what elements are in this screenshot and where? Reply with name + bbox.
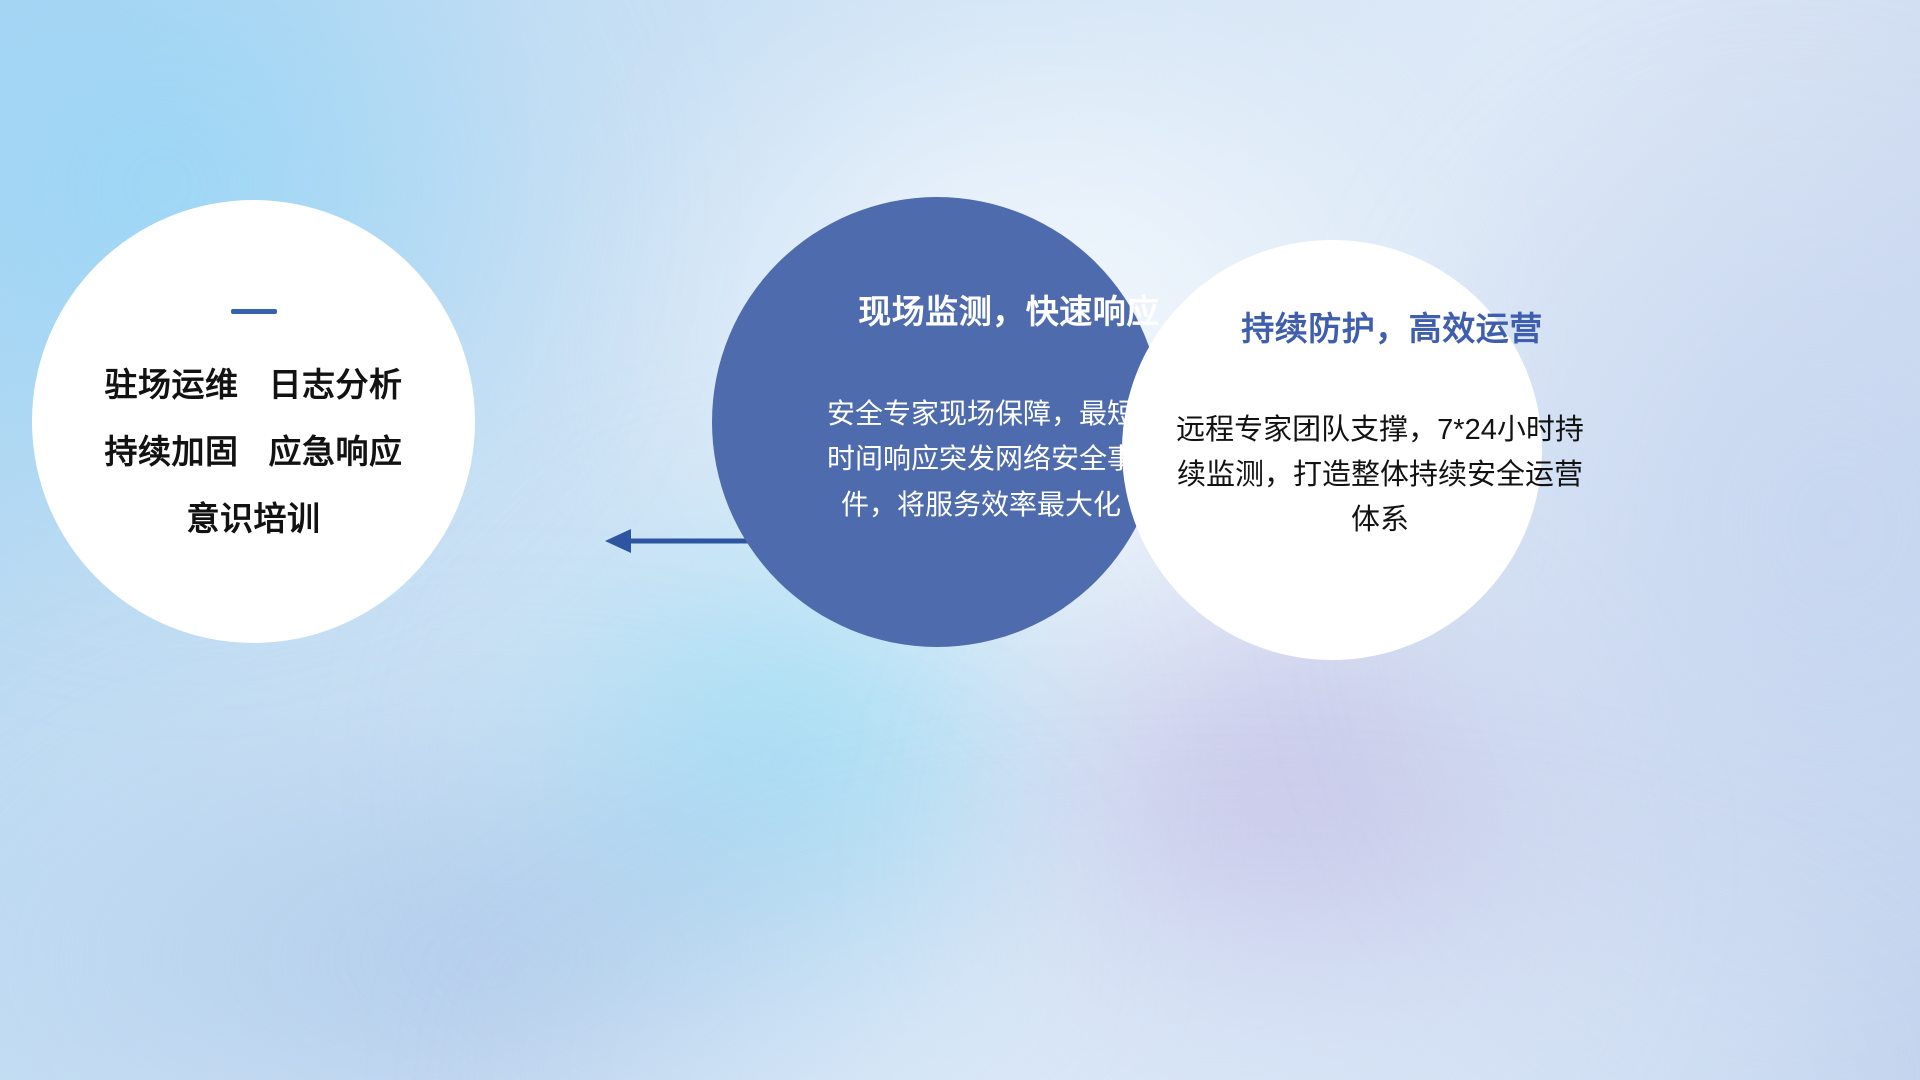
onsite-monitoring-content: 现场监测，快速响应 安全专家现场保障，最短时间响应突发网络安全事件，将服务效率最… (712, 197, 1162, 647)
capability-row-2: 持续加固应急响应 (105, 435, 403, 468)
capability-row-1: 驻场运维日志分析 (105, 368, 403, 401)
capability-item-rizhifenxi: 日志分析 (269, 366, 403, 403)
continuous-protection-title: 持续防护，高效运营 (1241, 302, 1543, 350)
onsite-monitoring-circle: 现场监测，快速响应 安全专家现场保障，最短时间响应突发网络安全事件，将服务效率最… (712, 197, 1162, 647)
slide-canvas: 驻场运维日志分析 持续加固应急响应 意识培训 现场监测，快速响应 安全专家现场保… (0, 0, 1920, 1080)
continuous-protection-content: 持续防护，高效运营 远程专家团队支撑，7*24小时持续监测，打造整体持续安全运营… (1122, 240, 1542, 660)
capability-row-3: 意识培训 (105, 502, 403, 535)
capability-item-yingjixiangying: 应急响应 (269, 433, 403, 470)
continuous-protection-circle: 持续防护，高效运营 远程专家团队支撑，7*24小时持续监测，打造整体持续安全运营… (1122, 240, 1542, 660)
capability-item-yishipeixun: 意识培训 (187, 500, 321, 537)
onsite-monitoring-title: 现场监测，快速响应 (858, 285, 1160, 333)
capability-item-chixujiagu: 持续加固 (105, 433, 239, 470)
capability-item-zhuchangyunwei: 驻场运维 (105, 366, 239, 403)
capability-list: 驻场运维日志分析 持续加固应急响应 意识培训 (105, 368, 403, 535)
accent-dash (231, 309, 277, 314)
capability-circle: 驻场运维日志分析 持续加固应急响应 意识培训 (32, 200, 475, 643)
continuous-protection-body: 远程专家团队支撑，7*24小时持续监测，打造整体持续安全运营体系 (1170, 408, 1590, 543)
onsite-monitoring-body: 安全专家现场保障，最短时间响应突发网络安全事件，将服务效率最大化 (818, 391, 1144, 527)
